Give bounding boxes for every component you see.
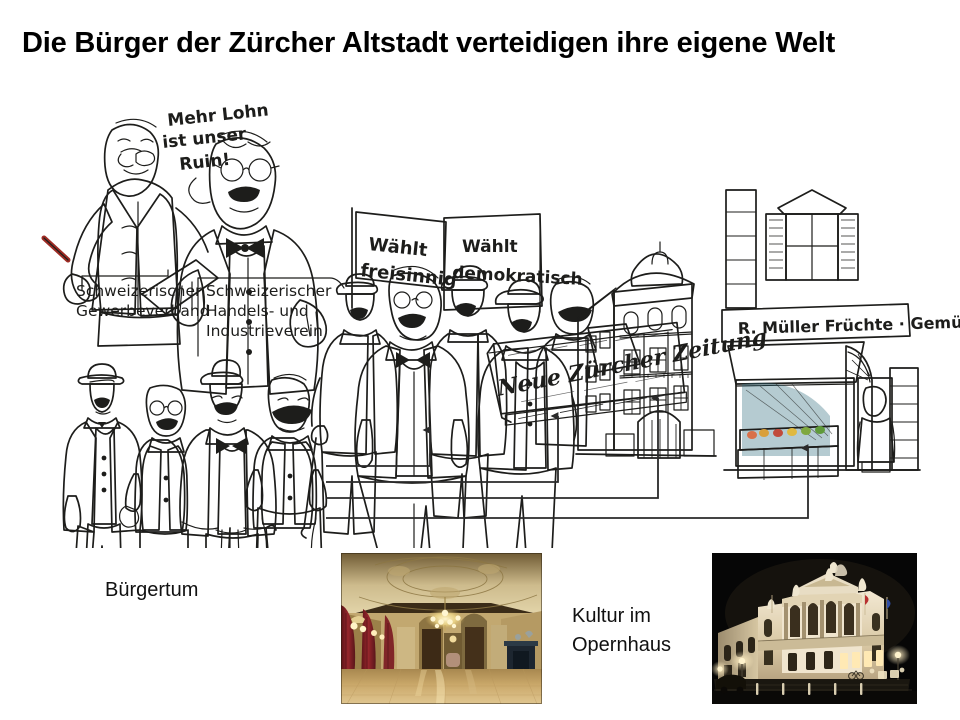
- page-title: Die Bürger der Zürcher Altstadt verteidi…: [22, 26, 938, 61]
- svg-text:Handels- und: Handels- und: [206, 302, 309, 320]
- illustration-cartoon: .ink{fill:none;stroke:#1d1d1b;stroke-wid…: [0, 78, 960, 548]
- svg-text:Schweizerischer: Schweizerischer: [206, 282, 332, 300]
- caption-kultur-im-opernhaus: Kultur im Opernhaus: [572, 602, 702, 660]
- caption-buergertum: Bürgertum: [105, 576, 198, 605]
- svg-text:Schweizerischer: Schweizerischer: [76, 282, 202, 300]
- svg-text:Industrieverein: Industrieverein: [206, 322, 323, 340]
- slide-canvas: Die Bürger der Zürcher Altstadt verteidi…: [0, 0, 960, 720]
- svg-text:Gewerbeverband: Gewerbeverband: [76, 302, 210, 320]
- photo-opernhaus-nacht: [712, 553, 917, 704]
- svg-text:Wählt: Wählt: [462, 237, 518, 257]
- photo-opernhaus-foyer: [341, 553, 542, 704]
